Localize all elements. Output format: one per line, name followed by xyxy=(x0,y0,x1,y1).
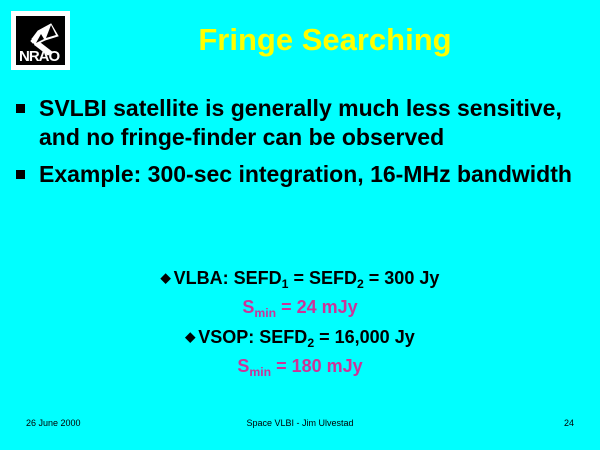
subscript: 2 xyxy=(307,336,314,350)
svg-text:NRAO: NRAO xyxy=(19,48,60,65)
formula-text: S xyxy=(242,297,254,317)
subscript: min xyxy=(254,306,276,320)
sub-line-list: ◆VLBA: SEFD1 = SEFD2 = 300 JySmin = 24 m… xyxy=(0,264,600,382)
formula-text: = 16,000 Jy xyxy=(314,327,415,347)
sub-line: ◆VLBA: SEFD1 = SEFD2 = 300 Jy xyxy=(0,264,600,294)
formula-text: = 300 Jy xyxy=(364,268,440,288)
subscript: 2 xyxy=(357,277,364,291)
square-bullet-icon xyxy=(16,104,25,113)
formula-text: VSOP: SEFD xyxy=(198,327,307,347)
nrao-logo: NRAO xyxy=(11,11,70,70)
formula-text: VLBA: SEFD xyxy=(174,268,282,288)
footer-title: Space VLBI - Jim Ulvestad xyxy=(0,418,600,428)
formula-text: S xyxy=(237,356,249,376)
list-item: Example: 300-sec integration, 16-MHz ban… xyxy=(16,160,584,189)
slide-title: Fringe Searching xyxy=(90,22,560,58)
bullet-text: Example: 300-sec integration, 16-MHz ban… xyxy=(39,160,584,189)
diamond-bullet-icon: ◆ xyxy=(185,329,195,344)
formula-text: = SEFD xyxy=(288,268,357,288)
footer-page-number: 24 xyxy=(564,418,574,428)
diamond-bullet-icon: ◆ xyxy=(161,270,171,285)
bullet-list: SVLBI satellite is generally much less s… xyxy=(16,94,584,191)
list-item: SVLBI satellite is generally much less s… xyxy=(16,94,584,152)
sub-line: Smin = 24 mJy xyxy=(0,294,600,323)
sub-line: ◆VSOP: SEFD2 = 16,000 Jy xyxy=(0,323,600,353)
slide-canvas: { "slide": { "background_color": "#00fff… xyxy=(0,0,600,450)
subscript: min xyxy=(249,365,271,379)
bullet-text: SVLBI satellite is generally much less s… xyxy=(39,94,584,152)
sub-line: Smin = 180 mJy xyxy=(0,353,600,382)
subscript: 1 xyxy=(282,277,289,291)
square-bullet-icon xyxy=(16,170,25,179)
formula-text: = 180 mJy xyxy=(271,356,363,376)
nrao-logo-icon: NRAO xyxy=(11,11,70,70)
formula-text: = 24 mJy xyxy=(276,297,358,317)
